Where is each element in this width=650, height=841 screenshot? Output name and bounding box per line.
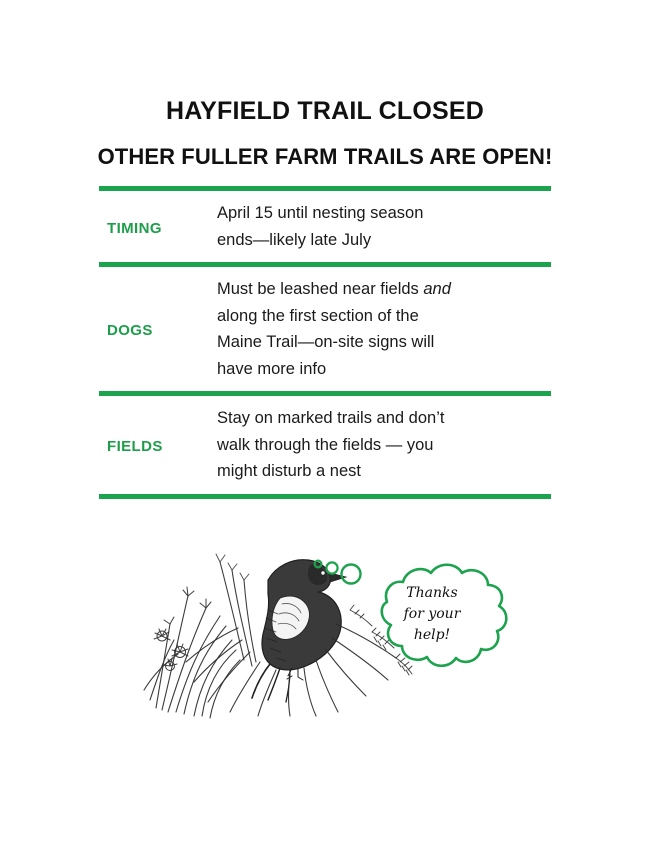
table-row: Timing April 15 until nesting season end… (99, 191, 551, 262)
bubble-line: help! (378, 625, 486, 646)
row-label-dogs: Dogs (99, 317, 217, 341)
poster-page: HAYFIELD TRAIL CLOSED OTHER FULLER FARM … (0, 0, 650, 841)
row-line-text: Must be leashed near fields (217, 280, 423, 298)
row-line: along the first section of the (217, 303, 551, 330)
table-row: Dogs Must be leashed near fields and alo… (99, 267, 551, 391)
page-subtitle: OTHER FULLER FARM TRAILS ARE OPEN! (0, 145, 650, 169)
info-table: Timing April 15 until nesting season end… (99, 186, 551, 499)
row-body-fields: Stay on marked trails and don’t walk thr… (217, 396, 551, 494)
table-row: Fields Stay on marked trails and don’t w… (99, 396, 551, 494)
row-line: ends—likely late July (217, 227, 551, 254)
row-body-dogs: Must be leashed near fields and along th… (217, 267, 551, 391)
row-label-timing: Timing (99, 215, 217, 239)
row-line: have more info (217, 356, 551, 383)
row-line-emphasis: and (423, 280, 451, 298)
row-line: Must be leashed near fields and (217, 276, 551, 303)
page-title: HAYFIELD TRAIL CLOSED (0, 98, 650, 126)
thought-bubble-text: Thanks for your help! (378, 583, 486, 646)
table-rule-bottom (99, 494, 551, 499)
row-line: Stay on marked trails and don’t (217, 405, 551, 432)
row-line: might disturb a nest (217, 458, 551, 485)
bird-icon (144, 554, 412, 718)
row-body-timing: April 15 until nesting season ends—likel… (217, 191, 551, 262)
bubble-line: for your (378, 604, 486, 625)
row-line: April 15 until nesting season (217, 200, 551, 227)
row-line: Maine Trail—on-site signs will (217, 329, 551, 356)
row-line: walk through the fields — you (217, 432, 551, 459)
row-label-fields: Fields (99, 433, 217, 457)
bubble-line: Thanks (378, 583, 486, 604)
